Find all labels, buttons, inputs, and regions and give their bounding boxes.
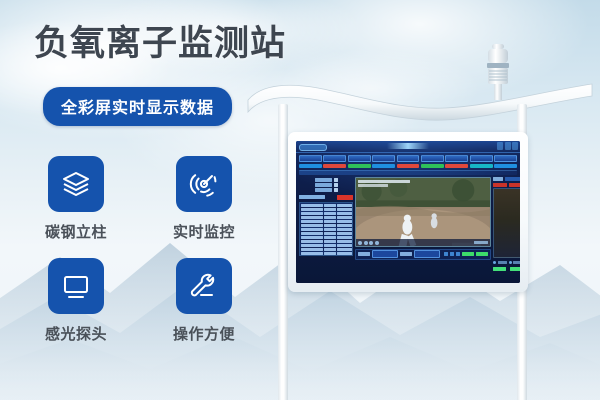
weather-sensor (479, 42, 517, 104)
control-bar[interactable] (355, 249, 491, 260)
control-label (358, 252, 370, 256)
control-button[interactable] (444, 252, 448, 256)
table-row[interactable] (300, 235, 352, 239)
control-button[interactable] (456, 252, 460, 256)
display-housing (288, 132, 528, 292)
kpi-card[interactable] (470, 155, 493, 168)
dashboard-body (296, 175, 520, 271)
kpi-card[interactable] (323, 155, 346, 168)
kpi-label (299, 155, 322, 162)
control-select[interactable] (414, 250, 440, 258)
table-row[interactable] (300, 223, 352, 227)
feature-item-2[interactable]: 实时监控 (168, 156, 240, 242)
table-header-row (300, 203, 352, 207)
kpi-value (421, 164, 444, 169)
table-row[interactable] (300, 211, 352, 215)
alert-badge[interactable] (509, 183, 520, 187)
table-row[interactable] (300, 231, 352, 235)
dashboard-tab[interactable] (299, 144, 327, 151)
table-row[interactable] (300, 215, 352, 219)
record-icon[interactable] (375, 241, 379, 245)
left-panel (299, 177, 353, 271)
status-dot (509, 261, 512, 264)
dashboard-toolbar[interactable] (497, 142, 518, 150)
table-row[interactable] (300, 227, 352, 231)
monitor-screen-icon (48, 258, 104, 314)
kpi-card[interactable] (299, 155, 322, 168)
pause-icon[interactable] (364, 241, 368, 245)
secondary-camera-view[interactable] (493, 188, 520, 258)
kpi-value (299, 164, 322, 169)
table-row[interactable] (300, 239, 352, 243)
alert-button[interactable] (337, 195, 353, 200)
control-select[interactable] (372, 250, 398, 258)
control-label (400, 252, 412, 256)
readout-value (510, 267, 520, 271)
table-toolbar (299, 195, 353, 200)
table-title (299, 195, 325, 199)
feature-row: 碳钢立柱 实时监控 (40, 156, 270, 242)
toolbar-item[interactable] (505, 142, 511, 150)
video-scene (356, 178, 490, 247)
feature-label: 操作方便 (168, 323, 240, 344)
feature-label: 碳钢立柱 (40, 221, 112, 242)
table-row[interactable] (300, 243, 352, 247)
summary-list (299, 177, 353, 192)
status-text (513, 261, 520, 264)
dashboard-header (296, 141, 520, 153)
video-timestamp (474, 241, 488, 244)
dashboard-title (387, 143, 429, 149)
readout-value (493, 267, 506, 271)
feature-row: 感光探头 操作方便 (40, 258, 270, 344)
kpi-card[interactable] (494, 155, 517, 168)
kpi-value (397, 164, 420, 169)
kpi-label (323, 155, 346, 162)
feature-item-1[interactable]: 碳钢立柱 (40, 156, 112, 242)
toolbar-item[interactable] (512, 142, 518, 150)
summary-row (315, 178, 338, 182)
promo-banner: 负氧离子监测站 全彩屏实时显示数据 碳钢立柱 (0, 0, 600, 400)
kpi-strip (296, 153, 520, 168)
control-button[interactable] (450, 252, 454, 256)
right-panel-footer (493, 260, 520, 266)
video-feed[interactable] (355, 177, 491, 247)
panel-action[interactable] (505, 177, 521, 181)
control-readout (462, 252, 474, 256)
table-row[interactable] (300, 207, 352, 211)
kpi-value (323, 164, 346, 169)
video-osd-line (358, 180, 410, 183)
status-text (498, 261, 508, 264)
right-panel-header (493, 177, 520, 181)
alert-row (493, 183, 520, 187)
table-row[interactable] (300, 247, 352, 251)
summary-row (315, 188, 338, 192)
center-panel (355, 177, 491, 271)
canopy-roof (240, 70, 600, 122)
panel-title (493, 177, 503, 181)
monitoring-dashboard[interactable] (296, 141, 520, 283)
feature-item-3[interactable]: 感光探头 (40, 258, 112, 344)
right-panel (493, 177, 520, 271)
video-osd-line (358, 184, 388, 187)
kpi-value (372, 164, 395, 169)
monitoring-station (240, 70, 600, 400)
kpi-card[interactable] (421, 155, 444, 168)
table-row[interactable] (300, 219, 352, 223)
data-table[interactable] (299, 202, 353, 256)
kpi-value (470, 164, 493, 169)
control-readout (476, 252, 488, 256)
kpi-card[interactable] (372, 155, 395, 168)
feature-list: 碳钢立柱 实时监控 (40, 156, 270, 360)
kpi-label (421, 155, 444, 162)
kpi-label (397, 155, 420, 162)
radar-monitor-icon (176, 156, 232, 212)
toolbar-item[interactable] (497, 142, 503, 150)
kpi-label (445, 155, 468, 162)
kpi-value (445, 164, 468, 169)
summary-row (315, 183, 338, 187)
layers-icon (48, 156, 104, 212)
feature-label: 感光探头 (40, 323, 112, 344)
kpi-card[interactable] (445, 155, 468, 168)
feature-item-4[interactable]: 操作方便 (168, 258, 240, 344)
status-dot (493, 261, 496, 264)
support-post-left (278, 104, 288, 400)
kpi-card[interactable] (397, 155, 420, 168)
wrench-icon (176, 258, 232, 314)
table-row[interactable] (300, 251, 352, 255)
readout-row (493, 267, 520, 271)
kpi-label (372, 155, 395, 162)
play-icon[interactable] (358, 241, 362, 245)
kpi-label (348, 155, 371, 162)
feature-label: 实时监控 (168, 221, 240, 242)
led-screen[interactable] (296, 141, 520, 283)
alert-badge[interactable] (493, 183, 507, 187)
kpi-value (494, 164, 517, 169)
kpi-label (470, 155, 493, 162)
subtitle-badge: 全彩屏实时显示数据 (43, 87, 232, 126)
snapshot-icon[interactable] (369, 241, 373, 245)
kpi-value (348, 164, 371, 169)
kpi-label (494, 155, 517, 162)
video-controls[interactable] (356, 239, 490, 246)
kpi-card[interactable] (348, 155, 371, 168)
page-title: 负氧离子监测站 (34, 22, 286, 66)
